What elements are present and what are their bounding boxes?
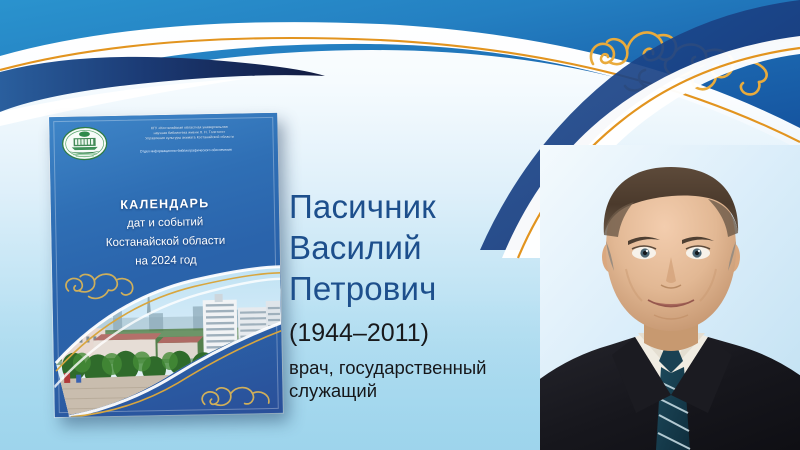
person-occupation-line-2: служащий <box>289 379 559 402</box>
book-header-text: КГУ «Костанайская областная универсальна… <box>113 124 265 142</box>
library-emblem <box>61 126 108 161</box>
person-patronymic: Петрович <box>289 268 559 309</box>
person-years: (1944–2011) <box>289 316 559 350</box>
person-first-name: Василий <box>289 227 559 268</box>
book-ornament-bottom-right <box>202 387 269 406</box>
kazakh-gold-ornament <box>575 12 790 102</box>
person-text-block: Пасичник Василий Петрович (1944–2011) вр… <box>289 186 559 402</box>
person-surname: Пасичник <box>289 186 559 227</box>
book-ornament-top-left <box>66 274 133 299</box>
person-occupation: врач, государственный служащий <box>289 356 559 402</box>
calendar-book-cover[interactable]: КГУ «Костанайская областная универсальна… <box>49 113 283 417</box>
slide-root: КГУ «Костанайская областная универсальна… <box>0 0 800 450</box>
book-city-photo <box>52 263 283 417</box>
person-occupation-line-1: врач, государственный <box>289 356 559 379</box>
book-title-block: КАЛЕНДАРЬ дат и событий Костанайской обл… <box>61 192 270 273</box>
portrait-photo <box>540 145 800 450</box>
